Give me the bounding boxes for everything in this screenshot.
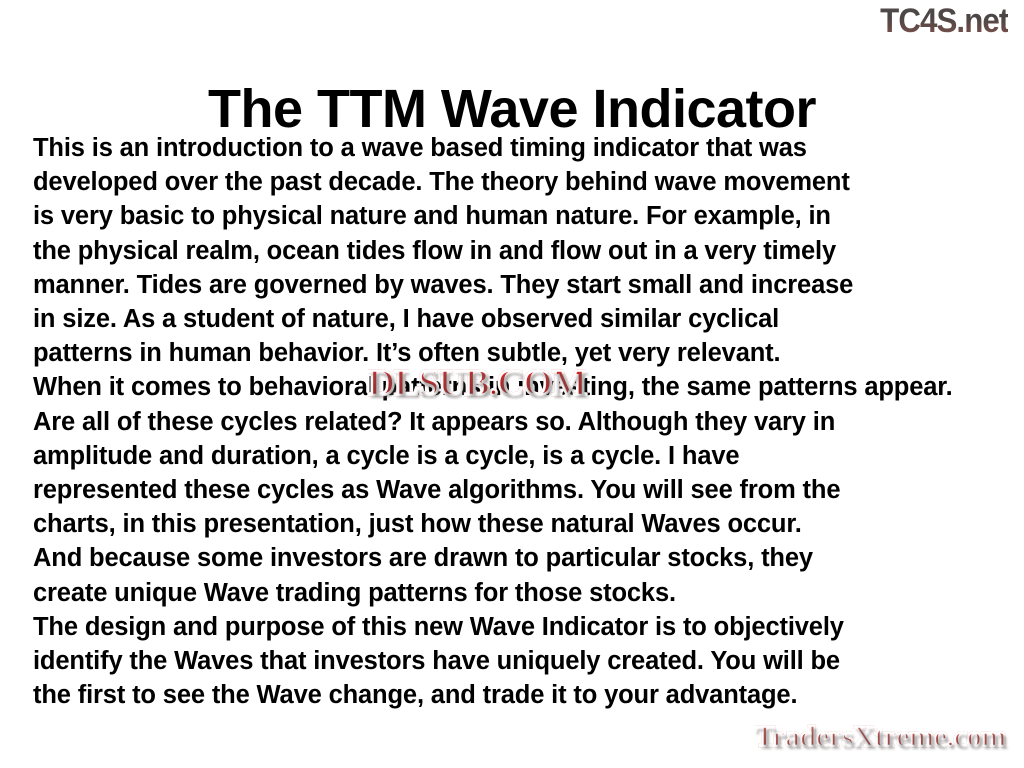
body-line: the first to see the Wave change, and tr… — [33, 678, 1001, 712]
tradersxtreme-brand-logo: TradersXtreme.com — [755, 719, 1006, 755]
body-line: create unique Wave trading patterns for … — [33, 576, 1001, 610]
body-line: charts, in this presentation, just how t… — [33, 507, 1001, 541]
slide-canvas: TC4S.net The TTM Wave Indicator This is … — [0, 0, 1024, 768]
body-line: the physical realm, ocean tides flow in … — [33, 234, 1001, 268]
body-line: And because some investors are drawn to … — [33, 541, 1001, 575]
body-line: amplitude and duration, a cycle is a cyc… — [33, 439, 1001, 473]
body-line: developed over the past decade. The theo… — [33, 165, 1001, 199]
body-line: is very basic to physical nature and hum… — [33, 199, 1001, 233]
body-line: in size. As a student of nature, I have … — [33, 302, 1001, 336]
body-line: The design and purpose of this new Wave … — [33, 610, 1001, 644]
dlsub-watermark: DLSUB.COM — [368, 363, 586, 405]
body-line: identify the Waves that investors have u… — [33, 644, 1001, 678]
body-line: manner. Tides are governed by waves. The… — [33, 268, 1001, 302]
body-line: represented these cycles as Wave algorit… — [33, 473, 1001, 507]
body-line: This is an introduction to a wave based … — [33, 131, 1001, 165]
tc4s-brand-logo: TC4S.net — [880, 2, 1008, 40]
body-text-block: This is an introduction to a wave based … — [33, 131, 1001, 712]
body-line: Are all of these cycles related? It appe… — [33, 405, 1001, 439]
